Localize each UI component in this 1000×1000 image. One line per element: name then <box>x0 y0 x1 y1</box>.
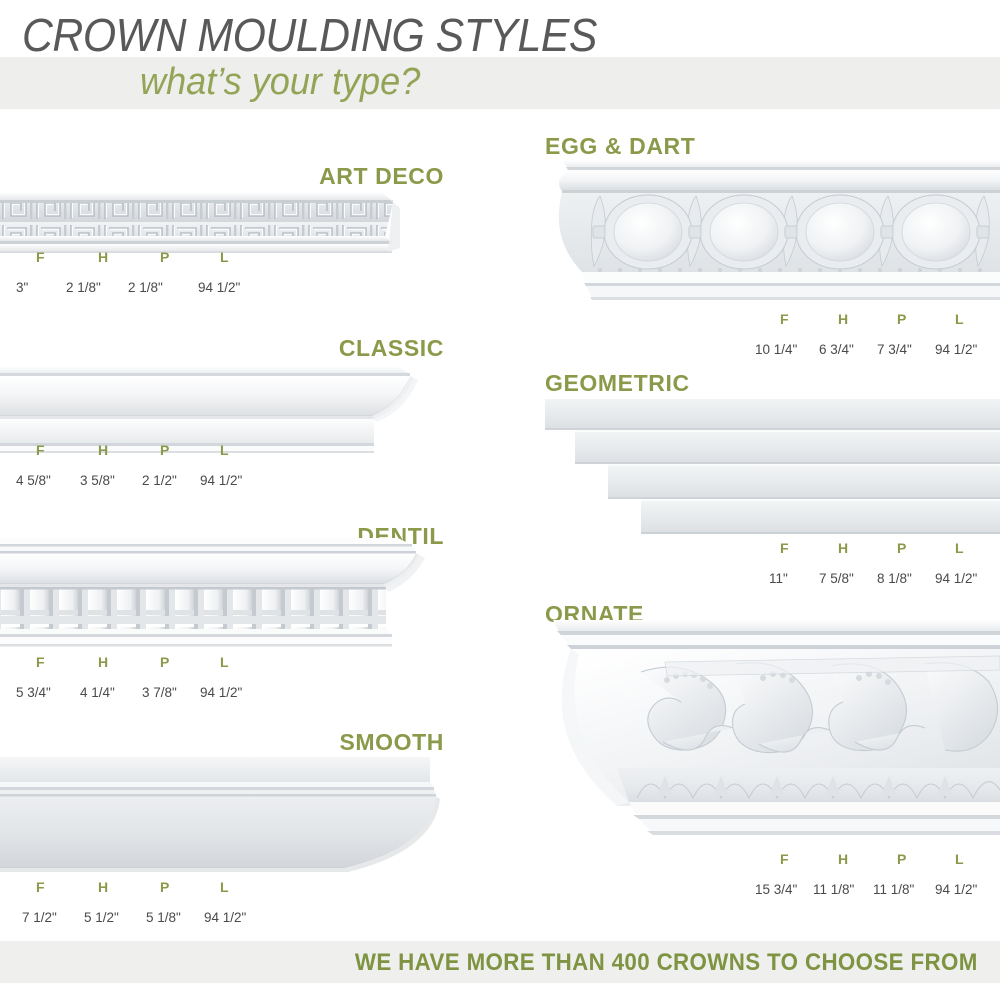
dim-header-f: F <box>780 541 789 555</box>
dim-header-f: F <box>780 852 789 866</box>
dim-value-l: 94 1/2" <box>204 911 246 925</box>
dim-value-f: 3" <box>16 281 28 295</box>
dim-value-p: 2 1/8" <box>128 281 163 295</box>
moulding-smooth <box>0 755 440 877</box>
dim-header-f: F <box>36 655 45 669</box>
dim-value-p: 3 7/8" <box>142 686 177 700</box>
dim-value-p: 5 1/8" <box>146 911 181 925</box>
dim-value-l: 94 1/2" <box>935 343 977 357</box>
section-title-egg-and-dart: EGG & DART <box>545 135 695 158</box>
dim-value-h: 4 1/4" <box>80 686 115 700</box>
dim-header-p: P <box>160 250 169 264</box>
section-title-classic: CLASSIC <box>144 337 444 360</box>
dim-value-f: 7 1/2" <box>22 911 57 925</box>
moulding-egg-and-dart <box>548 160 1000 312</box>
dim-value-h: 7 5/8" <box>819 572 854 586</box>
dim-value-l: 94 1/2" <box>935 572 977 586</box>
dim-header-l: L <box>955 852 964 866</box>
dim-header-f: F <box>36 443 45 457</box>
dim-value-p: 8 1/8" <box>877 572 912 586</box>
footer-tagline: WE HAVE MORE THAN 400 CROWNS TO CHOOSE F… <box>355 951 978 975</box>
dim-value-h: 6 3/4" <box>819 343 854 357</box>
dim-header-l: L <box>220 880 229 894</box>
dim-header-h: H <box>98 655 108 669</box>
dim-header-f: F <box>780 312 789 326</box>
dim-header-h: H <box>98 250 108 264</box>
dim-value-p: 11 1/8" <box>873 883 914 897</box>
moulding-classic <box>0 364 420 456</box>
dim-value-p: 2 1/2" <box>142 474 177 488</box>
page-subtitle: what’s your type? <box>140 62 420 102</box>
dim-value-l: 94 1/2" <box>200 474 242 488</box>
dim-value-f: 5 3/4" <box>16 686 51 700</box>
dim-header-l: L <box>220 250 229 264</box>
dim-header-l: L <box>220 443 229 457</box>
dim-header-f: F <box>36 250 45 264</box>
dim-value-f: 10 1/4" <box>755 343 797 357</box>
dim-header-h: H <box>98 880 108 894</box>
dim-value-h: 11 1/8" <box>813 883 854 897</box>
dim-value-h: 5 1/2" <box>84 911 119 925</box>
dim-header-h: H <box>98 443 108 457</box>
moulding-geometric <box>545 395 1000 540</box>
dim-value-h: 2 1/8" <box>66 281 101 295</box>
dim-value-f: 15 3/4" <box>755 883 797 897</box>
dim-header-p: P <box>160 655 169 669</box>
dim-value-f: 4 5/8" <box>16 474 51 488</box>
dim-header-h: H <box>838 312 848 326</box>
dim-header-h: H <box>838 852 848 866</box>
dim-value-l: 94 1/2" <box>935 883 977 897</box>
page-title: CROWN MOULDING STYLES <box>22 12 597 58</box>
dim-value-h: 3 5/8" <box>80 474 115 488</box>
section-title-geometric: GEOMETRIC <box>545 372 690 395</box>
infographic-page: CROWN MOULDING STYLES what’s your type? … <box>0 0 1000 1000</box>
dim-header-p: P <box>897 852 906 866</box>
section-title-smooth: SMOOTH <box>144 731 444 754</box>
dim-header-p: P <box>897 312 906 326</box>
section-title-art-deco: ART DECO <box>144 165 444 188</box>
dim-header-l: L <box>955 541 964 555</box>
dim-header-p: P <box>897 541 906 555</box>
dim-header-f: F <box>36 880 45 894</box>
moulding-art-deco <box>0 192 400 254</box>
dim-header-l: L <box>955 312 964 326</box>
dim-header-p: P <box>160 443 169 457</box>
moulding-ornate <box>545 620 1000 850</box>
dim-header-l: L <box>220 655 229 669</box>
moulding-dentil <box>0 538 425 653</box>
dim-header-p: P <box>160 880 169 894</box>
dim-value-f: 11" <box>769 572 788 586</box>
dim-value-l: 94 1/2" <box>200 686 242 700</box>
dim-value-l: 94 1/2" <box>198 281 240 295</box>
dim-value-p: 7 3/4" <box>877 343 912 357</box>
dim-header-h: H <box>838 541 848 555</box>
